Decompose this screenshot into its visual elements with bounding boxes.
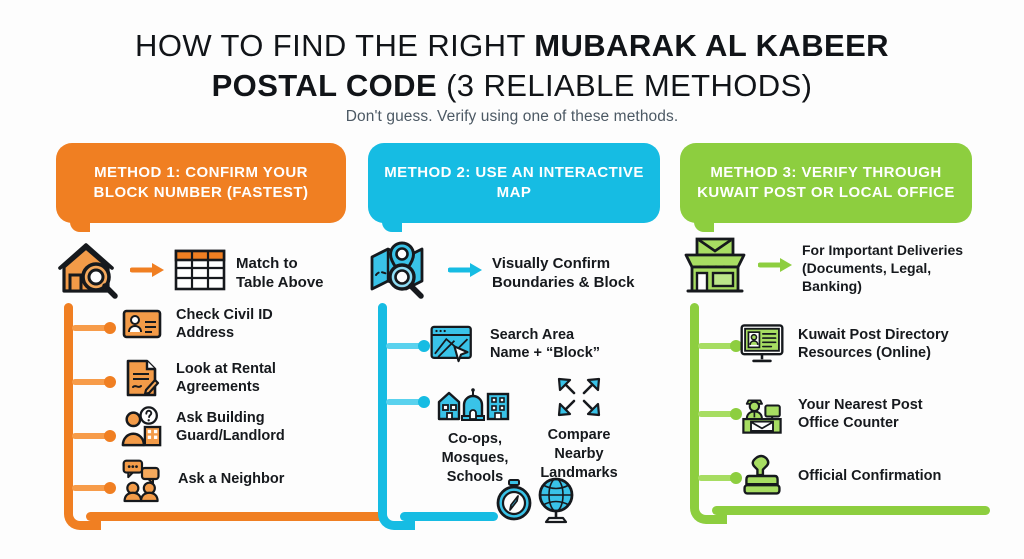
rubber-stamp-icon [740, 452, 784, 500]
method-2-twin-1[interactable]: Co-ops, Mosques, Schools [420, 382, 530, 487]
method-3-feature-label: For Important Deliveries (Documents, Leg… [802, 241, 972, 295]
method-3-item-2[interactable]: Your Nearest Post Office Counter [740, 390, 923, 438]
coop-mosque-school-icon [420, 382, 530, 422]
method-1-item-3[interactable]: Ask Building Guard/Landlord [120, 405, 285, 449]
method-3-item-1-line2: Resources (Online) [798, 345, 931, 361]
method-3-item-2-label: Your Nearest Post Office Counter [798, 396, 923, 432]
method-1-feature-label: Match to Table Above [236, 254, 324, 292]
bubble-tail [382, 218, 402, 232]
method-3-feature-line1: For Important Deliveries [802, 242, 963, 258]
arrow-right-icon [130, 260, 166, 285]
method-1-item-1-line2: Address [176, 325, 234, 341]
page-title: HOW TO FIND THE RIGHT MUBARAK AL KABEER … [0, 26, 1024, 106]
table-grid-icon [174, 248, 226, 297]
browser-map-cursor-icon [430, 320, 474, 368]
method-2-twin-2[interactable]: Compare Nearby Landmarks [524, 378, 634, 483]
compass-icon [494, 478, 534, 527]
method-1-item-2-line2: Agreements [176, 379, 260, 395]
globe-icon [534, 476, 578, 529]
method-2-feature-line1: Visually Confirm [492, 255, 610, 272]
method-2-header-label: METHOD 2: USE AN INTERACTIVE MAP [380, 163, 648, 203]
house-magnifier-icon [56, 239, 122, 306]
civil-id-card-icon [120, 308, 164, 340]
method-2-item-1-line2: Name + “Block” [490, 345, 600, 361]
method-1-item-2-label: Look at Rental Agreements [176, 360, 276, 396]
method-1-item-1-label: Check Civil ID Address [176, 306, 273, 342]
twin-2-line2: Nearby [554, 446, 603, 462]
map-pin-magnifier-icon [368, 239, 440, 306]
method-2-feature-row: Visually Confirm Boundaries & Block [368, 239, 660, 306]
method-1-item-2[interactable]: Look at Rental Agreements [120, 358, 276, 398]
twin-1-line1: Co-ops, [448, 431, 502, 447]
monitor-directory-icon [740, 320, 784, 368]
method-2-item-1-line1: Search Area [490, 327, 574, 343]
method-3-item-1-line1: Kuwait Post Directory [798, 327, 949, 343]
title-line-2-bold: POSTAL CODE [212, 68, 437, 103]
method-1-item-1[interactable]: Check Civil ID Address [120, 306, 273, 342]
bubble-tail [70, 218, 90, 232]
expand-arrows-icon [524, 378, 634, 418]
building-guard-icon [120, 405, 164, 449]
method-3-header-label: METHOD 3: VERIFY THROUGH KUWAIT POST OR … [692, 163, 960, 203]
method-3-item-3-label: Official Confirmation [798, 467, 941, 485]
method-1-item-4-label: Ask a Neighbor [178, 470, 284, 488]
method-2-column: METHOD 2: USE AN INTERACTIVE MAP [368, 143, 660, 306]
method-1-feature-line2: Table Above [236, 274, 324, 291]
method-3-item-3-line1: Official Confirmation [798, 468, 941, 484]
method-3-item-2-line2: Office Counter [798, 415, 899, 431]
method-1-column: METHOD 1: CONFIRM YOUR BLOCK NUMBER (FAS… [56, 143, 346, 306]
infographic-canvas: HOW TO FIND THE RIGHT MUBARAK AL KABEER … [0, 0, 1024, 559]
title-line-1: HOW TO FIND THE RIGHT MUBARAK AL KABEER [0, 26, 1024, 66]
method-3-feature-line2: (Documents, Legal, Banking) [802, 260, 931, 294]
method-2-header: METHOD 2: USE AN INTERACTIVE MAP [368, 143, 660, 223]
bubble-tail [694, 218, 714, 232]
method-2-feature-label: Visually Confirm Boundaries & Block [492, 254, 635, 292]
arrow-right-icon [448, 260, 484, 285]
method-1-feature-line1: Match to [236, 255, 298, 272]
method-2-twin-2-label: Compare Nearby Landmarks [524, 426, 634, 483]
title-line-2: POSTAL CODE (3 RELIABLE METHODS) [0, 66, 1024, 106]
arrow-right-icon [758, 255, 794, 280]
method-1-feature-row: Match to Table Above [56, 239, 346, 306]
method-3-item-1-label: Kuwait Post Directory Resources (Online) [798, 326, 949, 362]
title-line-1-bold: MUBARAK AL KABEER [534, 28, 889, 63]
method-2-item-1[interactable]: Search Area Name + “Block” [430, 320, 600, 368]
method-1-item-3-line2: Guard/Landlord [176, 428, 285, 444]
method-3-item-3[interactable]: Official Confirmation [740, 452, 941, 500]
method-1-header-label: METHOD 1: CONFIRM YOUR BLOCK NUMBER (FAS… [68, 163, 334, 203]
method-3-item-1[interactable]: Kuwait Post Directory Resources (Online) [740, 320, 949, 368]
method-1-item-1-line1: Check Civil ID [176, 307, 273, 323]
twin-1-line2: Mosques, [442, 450, 509, 466]
post-office-shop-icon [680, 233, 750, 302]
rental-agreement-icon [120, 358, 164, 398]
method-3-item-2-line1: Your Nearest Post [798, 397, 923, 413]
post-counter-clerk-icon [740, 390, 784, 438]
title-line-1-plain: HOW TO FIND THE RIGHT [135, 28, 534, 63]
method-2-item-1-label: Search Area Name + “Block” [490, 326, 600, 362]
method-1-item-2-line1: Look at Rental [176, 361, 276, 377]
method-3-header: METHOD 3: VERIFY THROUGH KUWAIT POST OR … [680, 143, 972, 223]
method-1-item-4[interactable]: Ask a Neighbor [120, 455, 284, 503]
page-subtitle: Don't guess. Verify using one of these m… [0, 108, 1024, 126]
method-1-header: METHOD 1: CONFIRM YOUR BLOCK NUMBER (FAS… [56, 143, 346, 223]
title-line-2-plain: (3 RELIABLE METHODS) [437, 68, 812, 103]
method-3-column: METHOD 3: VERIFY THROUGH KUWAIT POST OR … [680, 143, 972, 302]
twin-2-line1: Compare [548, 427, 611, 443]
neighbors-chat-icon [120, 455, 164, 503]
method-1-item-3-label: Ask Building Guard/Landlord [176, 409, 285, 445]
method-1-item-4-line1: Ask a Neighbor [178, 471, 284, 487]
method-2-feature-line2: Boundaries & Block [492, 274, 635, 291]
method-3-feature-row: For Important Deliveries (Documents, Leg… [680, 233, 972, 302]
method-1-item-3-line1: Ask Building [176, 410, 265, 426]
